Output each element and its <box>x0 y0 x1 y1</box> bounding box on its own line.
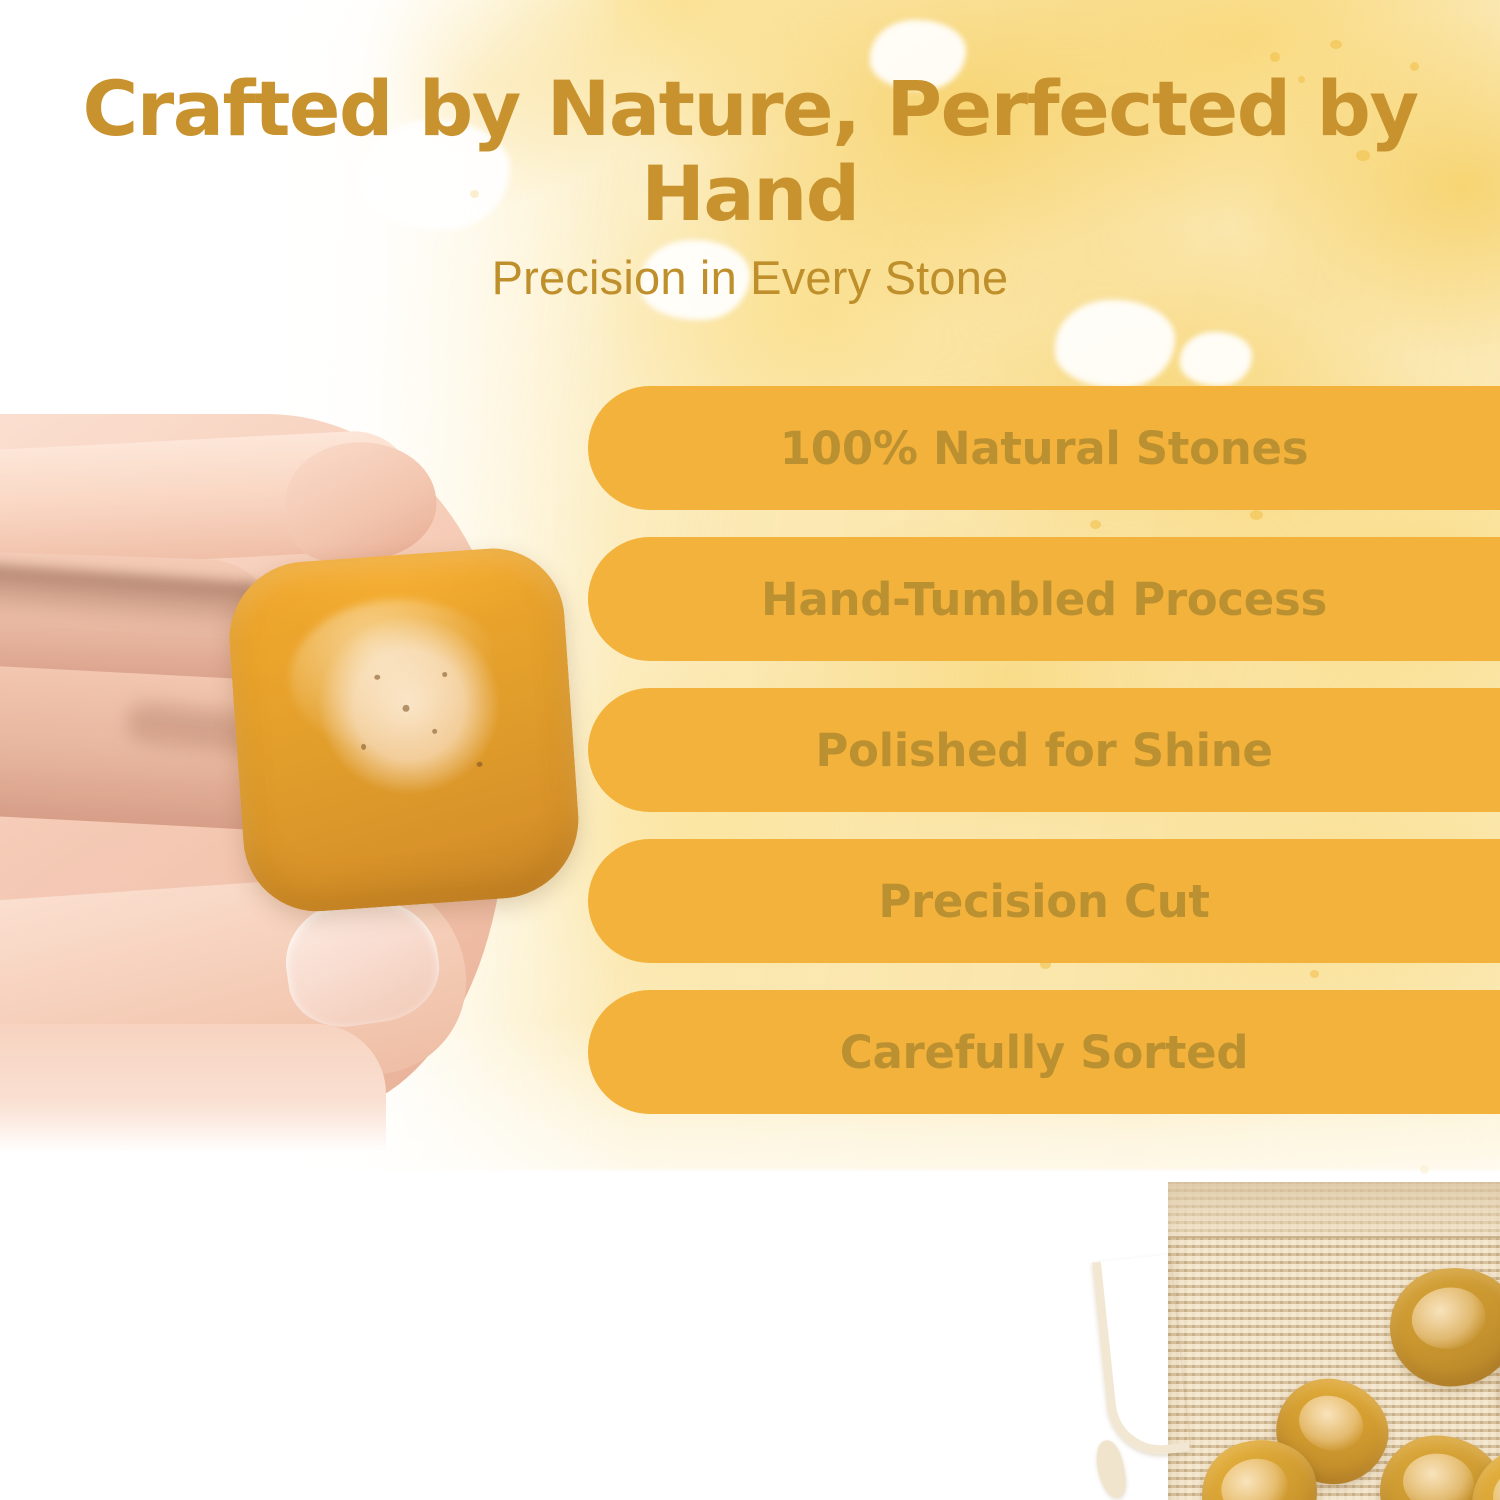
pouch-with-stones-photo <box>1080 1140 1500 1500</box>
page-title: Crafted by Nature, Perfected by Hand <box>0 66 1500 236</box>
header: Crafted by Nature, Perfected by Hand Pre… <box>0 0 1500 304</box>
pouch-hem <box>1168 1182 1500 1238</box>
hand-holding-stone-photo <box>0 414 598 1142</box>
infographic-canvas: Crafted by Nature, Perfected by Hand Pre… <box>0 0 1500 1500</box>
feature-pill-natural-stones[interactable]: 100% Natural Stones <box>588 386 1500 510</box>
watercolor-blot <box>1055 300 1175 388</box>
pouch-drawstring-knot <box>1093 1438 1129 1500</box>
feature-list: 100% Natural Stones Hand-Tumbled Process… <box>588 386 1500 1114</box>
watercolor-blot <box>1180 332 1252 386</box>
feature-label: Carefully Sorted <box>588 1026 1500 1079</box>
feature-pill-precision-cut[interactable]: Precision Cut <box>588 839 1500 963</box>
feature-label: Polished for Shine <box>588 724 1500 777</box>
feature-label: Precision Cut <box>588 875 1500 928</box>
feature-label: Hand-Tumbled Process <box>588 573 1500 626</box>
page-subtitle: Precision in Every Stone <box>0 252 1500 304</box>
palm-lower-edge <box>0 1024 386 1154</box>
feature-label: 100% Natural Stones <box>588 422 1500 475</box>
stone-fleck <box>361 744 366 750</box>
tumbled-stone <box>224 544 584 917</box>
feature-pill-polished[interactable]: Polished for Shine <box>588 688 1500 812</box>
feature-pill-hand-tumbled[interactable]: Hand-Tumbled Process <box>588 537 1500 661</box>
stone-fleck <box>476 762 482 767</box>
stone-highlight <box>285 592 505 756</box>
feature-pill-carefully-sorted[interactable]: Carefully Sorted <box>588 990 1500 1114</box>
